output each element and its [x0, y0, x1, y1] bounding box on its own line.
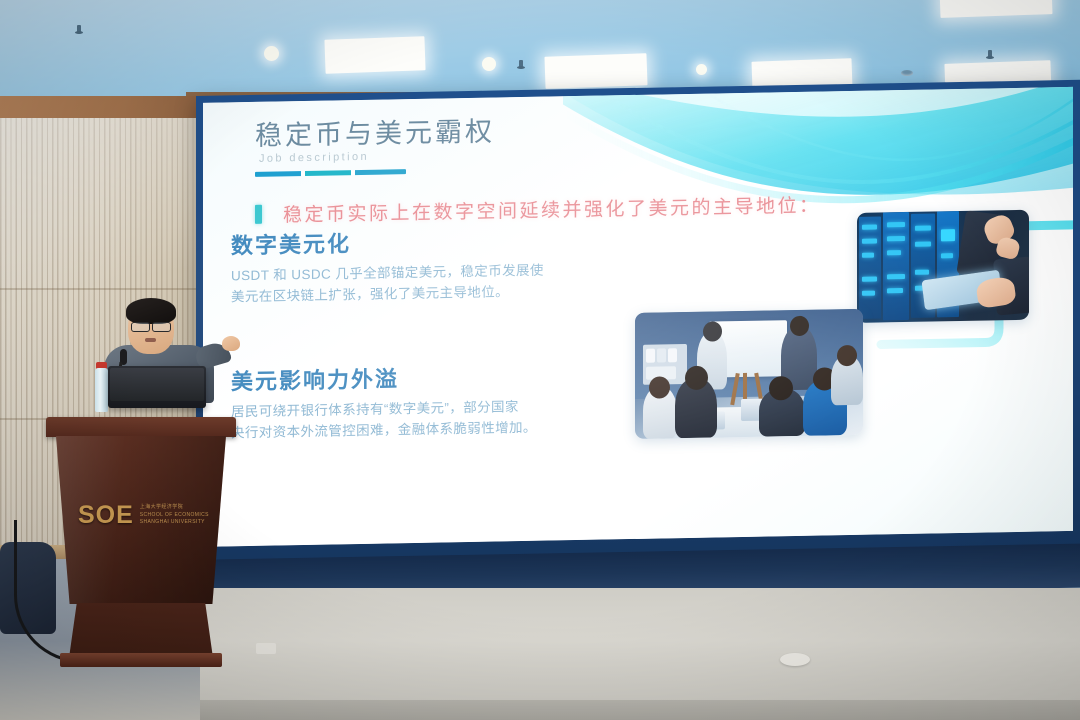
ceiling-sprinkler — [77, 25, 81, 33]
podium-foot — [60, 653, 222, 667]
floor-socket — [780, 653, 810, 666]
podium-logo-soe: SOE — [78, 503, 134, 528]
presentation-photo-scene: 稳定币与美元霸权 Job description 稳定币实际上在数字空间延续并强… — [0, 0, 1080, 720]
projection-screen-surface: 稳定币与美元霸权 Job description 稳定币实际上在数字空间延续并强… — [203, 87, 1073, 547]
content-block-1: 数字美元化 USDT 和 USDC 几乎全部锚定美元，稳定币发展使 美元在区块链… — [231, 223, 544, 309]
ceiling-downlight — [482, 57, 496, 71]
floor-plate — [256, 643, 276, 654]
block-1-body: USDT 和 USDC 几乎全部锚定美元，稳定币发展使 美元在区块链上扩张，强化… — [231, 261, 544, 309]
podium-logo-cn-block: 上海大学经济学院 SCHOOL OF ECONOMICS SHANGHAI UN… — [140, 504, 209, 527]
ceiling-downlight — [696, 64, 707, 75]
laptop-screen — [110, 368, 204, 401]
ceiling-light-panel — [324, 36, 425, 73]
business-meeting-photo — [635, 309, 863, 439]
podium: SOE 上海大学经济学院 SCHOOL OF ECONOMICS SHANGHA… — [46, 417, 236, 667]
content-block-2: 美元影响力外溢 居民可绕开银行体系持有“数字美元”，部分国家 央行对资本外流管控… — [231, 359, 537, 444]
headline-tick-marker — [255, 204, 262, 223]
speaker-mouth — [145, 338, 156, 342]
speaker-hair — [126, 298, 176, 324]
podium-logo-cn-line-1: 上海大学经济学院 — [140, 504, 209, 512]
speaker-glasses-left — [131, 322, 150, 332]
laptop — [108, 366, 206, 408]
podium-logo-cn-line-2: SCHOOL OF ECONOMICS — [140, 512, 209, 520]
ceiling-sprinkler — [519, 60, 523, 68]
podium-top — [46, 417, 236, 437]
ceiling-downlight — [264, 46, 279, 61]
projection-screen-frame: 稳定币与美元霸权 Job description 稳定币实际上在数字空间延续并强… — [196, 80, 1080, 570]
block-2-body: 居民可绕开银行体系持有“数字美元”，部分国家 央行对资本外流管控困难，金融体系脆… — [231, 397, 537, 444]
ceiling-sprinkler — [988, 50, 992, 58]
speaker-right-hand — [222, 336, 240, 351]
ceiling-smoke-detector — [901, 70, 913, 76]
slide-headline: 稳定币实际上在数字空间延续并强化了美元的主导地位： — [283, 190, 821, 227]
speaker-glasses-right — [152, 322, 171, 332]
tech-server-tablet-photo — [857, 210, 1029, 323]
podium-logo: SOE 上海大学经济学院 SCHOOL OF ECONOMICS SHANGHA… — [78, 503, 209, 528]
block-1-heading: 数字美元化 — [231, 223, 544, 261]
water-bottle — [95, 368, 108, 412]
presentation-slide: 稳定币与美元霸权 Job description 稳定币实际上在数字空间延续并强… — [203, 87, 1073, 547]
ceiling-light-panel — [544, 53, 647, 89]
block-2-heading: 美元影响力外溢 — [231, 359, 537, 397]
title-accent-bar — [255, 169, 406, 177]
podium-logo-cn-line-3: SHANGHAI UNIVERSITY — [140, 519, 209, 527]
